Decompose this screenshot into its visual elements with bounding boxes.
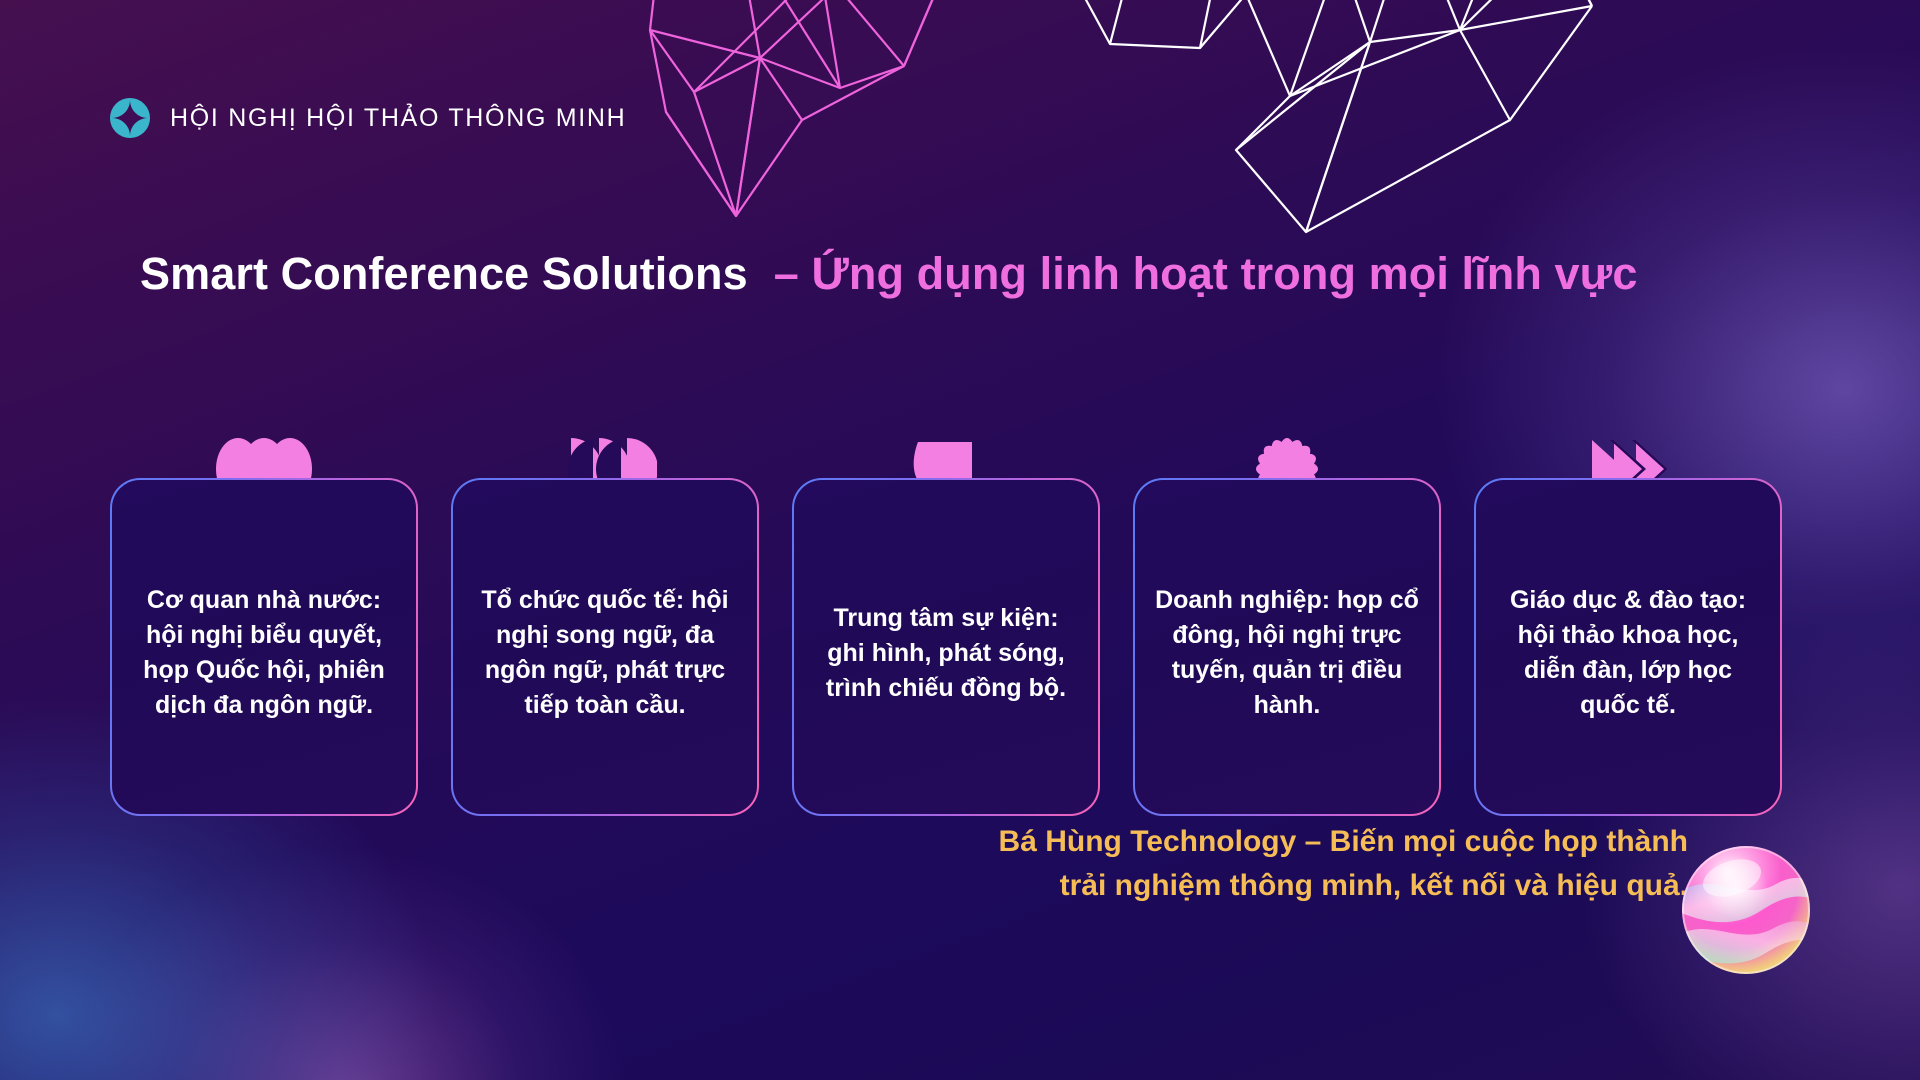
card-text: Trung tâm sự kiện: ghi hình, phát sóng, …: [814, 601, 1078, 706]
footer-line-2: trải nghiệm thông minh, kết nối và hiệu …: [808, 864, 1688, 908]
list-item[interactable]: Giáo dục & đào tạo: hội thảo khoa học, d…: [1474, 478, 1782, 816]
card-body: Trung tâm sự kiện: ghi hình, phát sóng, …: [794, 480, 1098, 814]
iridescent-sphere-icon: [1680, 844, 1812, 976]
four-point-star-circle-icon: [110, 98, 150, 138]
card-body: Doanh nghiệp: họp cổ đông, hội nghị trực…: [1135, 480, 1439, 814]
list-item[interactable]: Doanh nghiệp: họp cổ đông, hội nghị trực…: [1133, 478, 1441, 816]
card-border: Cơ quan nhà nước: hội nghị biểu quyết, h…: [110, 478, 418, 816]
polygon-mesh-pink-decor: [640, 0, 1020, 240]
card-border: Tổ chức quốc tế: hội nghị song ngữ, đa n…: [451, 478, 759, 816]
slide-canvas: HỘI NGHỊ HỘI THẢO THÔNG MINH Smart Confe…: [0, 0, 1920, 1080]
card-body: Tổ chức quốc tế: hội nghị song ngữ, đa n…: [453, 480, 757, 814]
list-item[interactable]: Trung tâm sự kiện: ghi hình, phát sóng, …: [792, 478, 1100, 816]
polygon-mesh-white-decor: [1040, 0, 1600, 260]
headline-primary: Smart Conference Solutions: [140, 248, 748, 299]
headline-secondary: – Ứng dụng linh hoạt trong mọi lĩnh vực: [774, 248, 1638, 299]
card-text: Tổ chức quốc tế: hội nghị song ngữ, đa n…: [473, 583, 737, 723]
card-body: Cơ quan nhà nước: hội nghị biểu quyết, h…: [112, 480, 416, 814]
list-item[interactable]: Cơ quan nhà nước: hội nghị biểu quyết, h…: [110, 478, 418, 816]
page-title: Smart Conference Solutions– Ứng dụng lin…: [140, 248, 1637, 300]
footer-line-1: Bá Hùng Technology – Biến mọi cuộc họp t…: [808, 820, 1688, 864]
card-body: Giáo dục & đào tạo: hội thảo khoa học, d…: [1476, 480, 1780, 814]
feature-card-row: Cơ quan nhà nước: hội nghị biểu quyết, h…: [110, 478, 1810, 816]
card-border: Giáo dục & đào tạo: hội thảo khoa học, d…: [1474, 478, 1782, 816]
brand-header: HỘI NGHỊ HỘI THẢO THÔNG MINH: [110, 98, 626, 138]
brand-name: HỘI NGHỊ HỘI THẢO THÔNG MINH: [170, 104, 626, 133]
card-border: Doanh nghiệp: họp cổ đông, hội nghị trực…: [1133, 478, 1441, 816]
list-item[interactable]: Tổ chức quốc tế: hội nghị song ngữ, đa n…: [451, 478, 759, 816]
footer-tagline: Bá Hùng Technology – Biến mọi cuộc họp t…: [808, 820, 1688, 908]
card-text: Doanh nghiệp: họp cổ đông, hội nghị trực…: [1155, 583, 1419, 723]
card-border: Trung tâm sự kiện: ghi hình, phát sóng, …: [792, 478, 1100, 816]
card-text: Giáo dục & đào tạo: hội thảo khoa học, d…: [1496, 583, 1760, 723]
card-text: Cơ quan nhà nước: hội nghị biểu quyết, h…: [132, 583, 396, 723]
